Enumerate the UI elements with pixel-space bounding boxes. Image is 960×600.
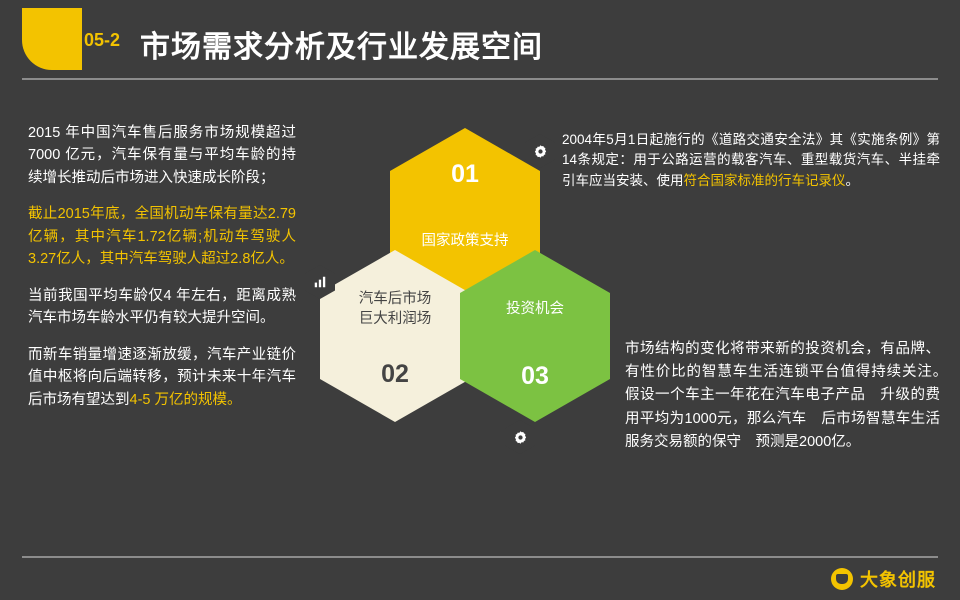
hexagon-number-02: 02 [320, 360, 470, 389]
right-top-text-after: 。 [846, 173, 860, 188]
header-badge-number: 05-2 [84, 30, 136, 51]
header-divider [22, 78, 938, 80]
elephant-logo-icon [831, 568, 853, 590]
hexagon-number-03: 03 [460, 362, 610, 391]
footer-brand: 大象创服 [831, 566, 936, 592]
gear-icon [525, 134, 555, 168]
hexagon-label-02: 汽车后市场巨大利润场 [320, 290, 470, 329]
slide-header: 05-2 市场需求分析及行业发展空间 [0, 0, 960, 82]
hexagon-number-01: 01 [390, 160, 540, 189]
right-bottom-text: 市场结构的变化将带来新的投资机会，有品牌、有性价比的智慧车生活连锁平台值得持续关… [625, 338, 940, 454]
paragraph-1: 2015 年中国汽车售后服务市场规模超过7000 亿元，汽车保有量与平均车龄的持… [28, 122, 296, 189]
header-badge-shape [22, 8, 82, 70]
paragraph-2: 截止2015年底，全国机动车保有量达2.79亿辆，其中汽车1.72亿辆;机动车驾… [28, 203, 296, 270]
footer-brand-text: 大象创服 [860, 566, 936, 592]
paragraph-4: 而新车销量增速逐渐放缓，汽车产业链价值中枢将向后端转移，预计未来十年汽车后市场有… [28, 344, 296, 411]
left-text-column: 2015 年中国汽车售后服务市场规模超过7000 亿元，汽车保有量与平均车龄的持… [28, 122, 296, 425]
page-title: 市场需求分析及行业发展空间 [140, 22, 543, 66]
paragraph-3: 当前我国平均车龄仅4 年左右，距离成熟汽车市场车龄水平仍有较大提升空间。 [28, 285, 296, 330]
hexagon-label-01: 国家政策支持 [390, 232, 540, 252]
right-top-highlight: 符合国家标准的行车记录仪 [684, 173, 846, 188]
paragraph-4-highlight: 4-5 万亿的规模。 [130, 392, 242, 408]
hexagon-label-03: 投资机会 [460, 300, 610, 320]
right-top-text: 2004年5月1日起施行的《道路交通安全法》其《实施条例》第14条规定：用于公路… [562, 130, 940, 191]
footer-divider [22, 556, 938, 558]
gear-icon [505, 420, 535, 454]
